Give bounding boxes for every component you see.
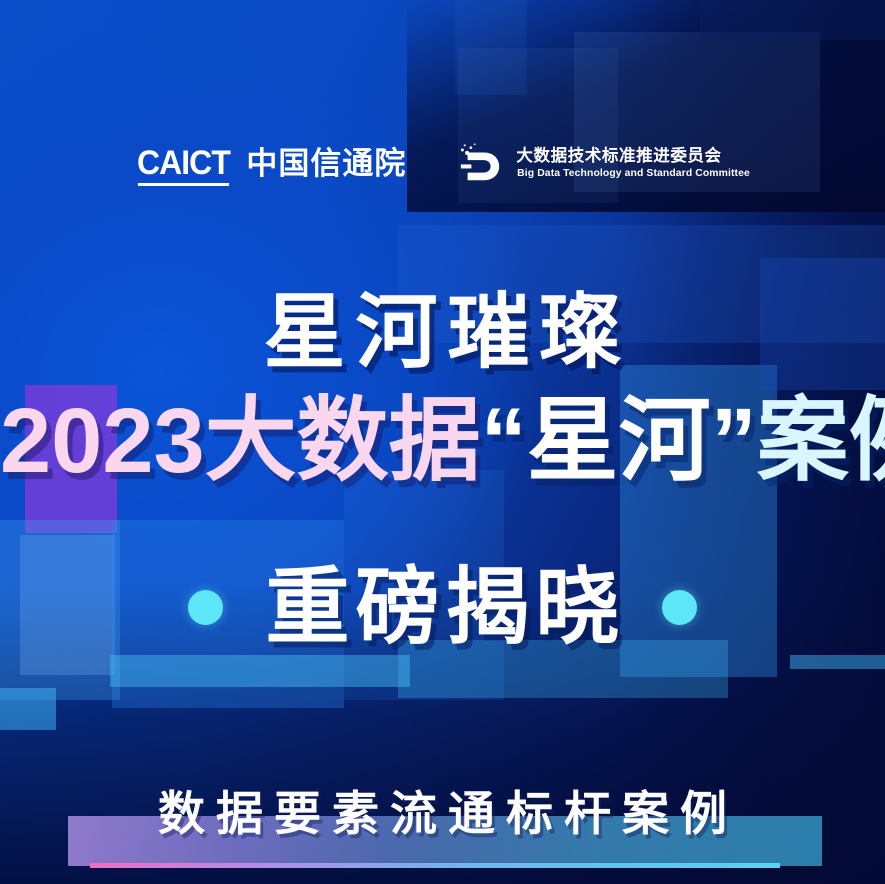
block-top-thin-right	[455, 0, 527, 95]
bdtsc-name-en: Big Data Technology and Standard Committ…	[518, 168, 751, 179]
bullet-dot-right-icon	[662, 590, 697, 625]
bottom-banner-text: 数据要素流通标杆案例	[0, 790, 885, 837]
headline-line-3-text: 重磅揭晓	[259, 565, 625, 649]
headline-line-2-year: 2023大数据	[0, 390, 481, 492]
headline-line-1: 星河璀璨	[0, 292, 885, 374]
bdtsc-text-block: 大数据技术标准推进委员会 Big Data Technology and Sta…	[516, 148, 751, 178]
block-bottom-cyan-bar	[110, 655, 410, 687]
block-bottom-left-tab	[0, 688, 56, 730]
block-far-right-bar	[790, 655, 885, 669]
headline-line-2-galaxy: 星河	[527, 390, 711, 492]
caict-wordmark-icon: CAICT	[136, 146, 229, 180]
poster-canvas: CAICT 中国信通院 大数据技术标准推进委员会 Big Data Techno…	[0, 0, 885, 884]
headline-line-2: 2023大数据“星河”案例	[0, 392, 885, 490]
headline-line-2-quote-open: “	[481, 390, 527, 492]
bdtsc-name-cn: 大数据技术标准推进委员会	[516, 148, 751, 165]
logo-row: CAICT 中国信通院 大数据技术标准推进委员会 Big Data Techno…	[0, 132, 885, 194]
bottom-banner-accent-line	[90, 863, 780, 868]
headline-line-2-quote-close: ”	[711, 390, 757, 492]
bdtsc-logo: 大数据技术标准推进委员会 Big Data Technology and Sta…	[458, 140, 751, 186]
headline-line-3: 重磅揭晓	[0, 565, 885, 649]
block-top-far-right	[700, 0, 885, 40]
letter-d-logo-icon	[458, 140, 504, 186]
headline-line-2-case: 案例	[757, 390, 885, 492]
caict-name-cn: 中国信通院	[246, 148, 406, 179]
caict-logo: CAICT 中国信通院	[134, 146, 407, 180]
bullet-dot-left-icon	[188, 590, 223, 625]
